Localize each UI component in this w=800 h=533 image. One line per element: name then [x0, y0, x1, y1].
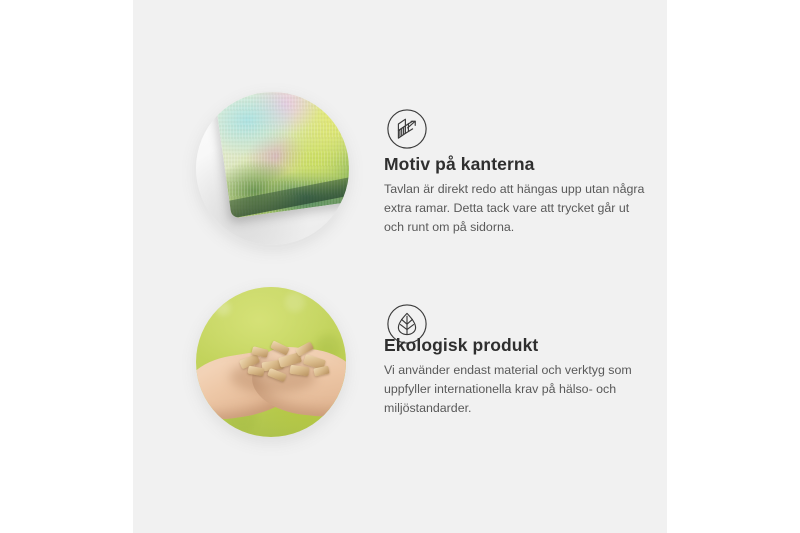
feature-title: Motiv på kanterna: [384, 154, 650, 175]
canvas-wrapped-edge-icon: [386, 108, 428, 150]
feature-text-block: Ekologisk produkt Vi använder endast mat…: [384, 335, 650, 418]
hands-holding-wood-chips-photo: [196, 287, 346, 437]
feature-panel-screenshot: Motiv på kanterna Tavlan är direkt redo …: [0, 0, 800, 533]
feature-description: Vi använder endast material och verktyg …: [384, 361, 650, 418]
content-panel: Motiv på kanterna Tavlan är direkt redo …: [133, 0, 667, 533]
feature-title: Ekologisk produkt: [384, 335, 650, 356]
canvas-print-corner-photo: [196, 92, 349, 245]
feature-list: Motiv på kanterna Tavlan är direkt redo …: [133, 0, 667, 533]
grass-backdrop: [196, 287, 346, 437]
feature-image-wrapper: [196, 92, 349, 245]
photo-backdrop: [196, 92, 349, 245]
wood-chips-pile: [238, 339, 330, 385]
feature-description: Tavlan är direkt redo att hängas upp uta…: [384, 180, 650, 237]
feature-image-wrapper: [196, 287, 346, 437]
feature-text-block: Motiv på kanterna Tavlan är direkt redo …: [384, 154, 650, 237]
canvas-print-block: [213, 92, 349, 219]
